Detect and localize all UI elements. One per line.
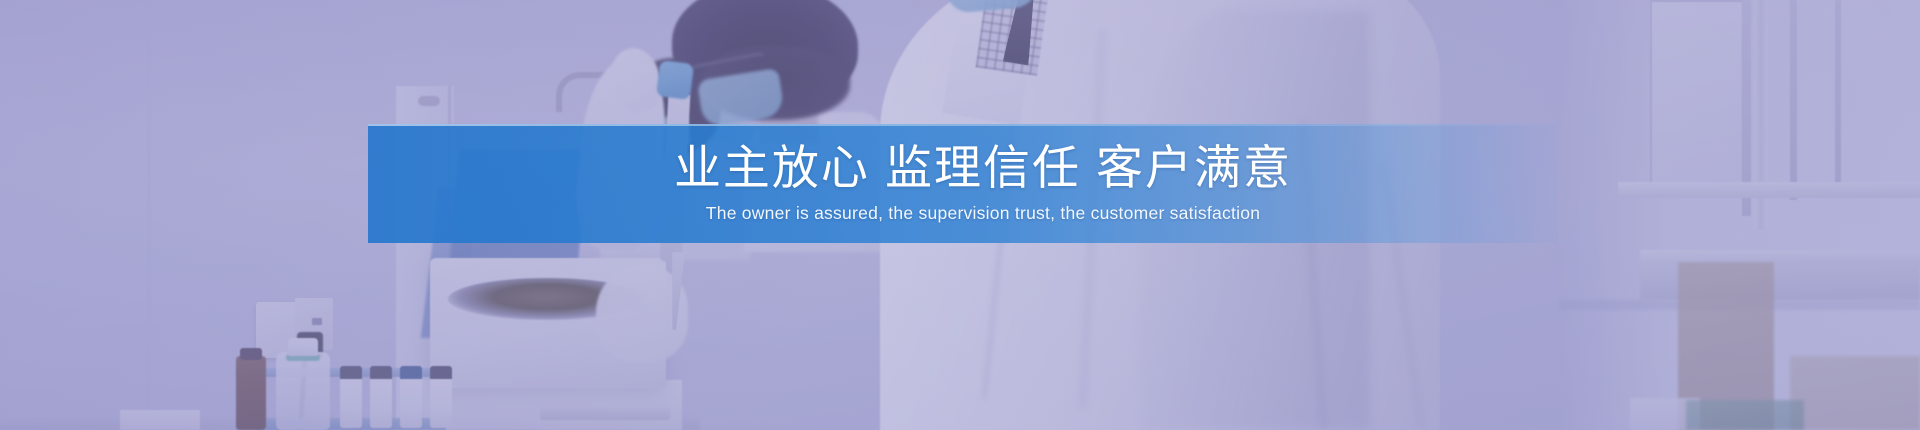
hero-banner: 业主放心 监理信任 客户满意 The owner is assured, the… xyxy=(0,0,1920,430)
banner-headline: 业主放心 监理信任 客户满意 xyxy=(674,143,1292,194)
banner-subheadline: The owner is assured, the supervision tr… xyxy=(706,203,1260,224)
caption-content: 业主放心 监理信任 客户满意 The owner is assured, the… xyxy=(368,124,1558,243)
